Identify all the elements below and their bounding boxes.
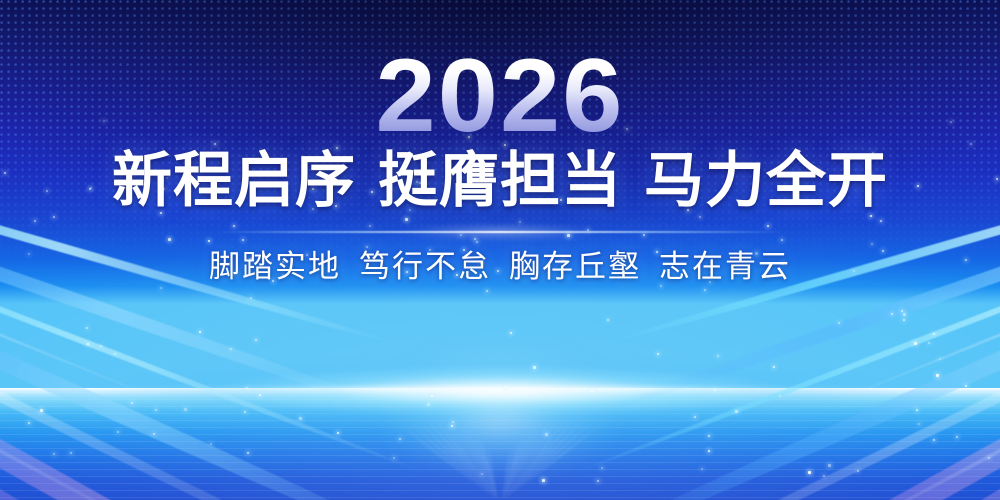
headline-segment-1: 新程启序 [112, 146, 356, 216]
headline-segment-3: 马力全开 [644, 146, 888, 216]
subline-segment-2: 笃行不怠 [359, 249, 491, 285]
subline-segment-1: 脚踏实地 [209, 249, 341, 285]
subline: 脚踏实地笃行不怠胸存丘壑志在青云 [0, 249, 1000, 285]
text-content: 2026 新程启序挺膺担当马力全开 脚踏实地笃行不怠胸存丘壑志在青云 [0, 0, 1000, 500]
subline-segment-3: 胸存丘壑 [509, 249, 641, 285]
headline: 新程启序挺膺担当马力全开 [0, 148, 1000, 214]
subline-segment-4: 志在青云 [659, 249, 791, 285]
year-title: 2026 [0, 44, 1000, 148]
headline-segment-2: 挺膺担当 [378, 146, 622, 216]
poster-canvas: 2026 新程启序挺膺担当马力全开 脚踏实地笃行不怠胸存丘壑志在青云 [0, 0, 1000, 500]
